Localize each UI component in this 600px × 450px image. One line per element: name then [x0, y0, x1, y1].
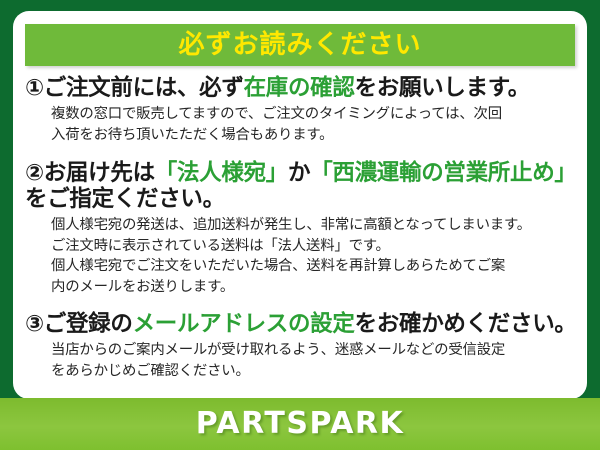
notice-item-1-heading-part-1: ご注文前には、必ず	[44, 75, 244, 101]
notice-items-list: ①ご注文前には、必ず在庫の確認をお願いします。 複数の窓口で販売してますので、ご…	[13, 75, 587, 381]
notice-item-3-marker: ③	[25, 311, 44, 337]
header-title: 必ずお読みください	[178, 32, 421, 58]
notice-item-2-body-line-1: 個人様宅宛の発送は、追加送料が発生し、非常に高額となってしまいます。	[51, 215, 577, 235]
notice-item-1-heading: ①ご注文前には、必ず在庫の確認をお願いします。	[25, 75, 577, 101]
notice-item-1-marker: ①	[25, 75, 44, 101]
notice-item-2-heading-part-1: お届け先は	[44, 160, 155, 186]
notice-item-1-heading-part-3: をお願いします。	[355, 75, 530, 101]
notice-item-2-heading: ②お届け先は「法人様宛」か「西濃運輸の営業所止め」をご指定ください。	[25, 160, 577, 212]
notice-item-3-body-line-1: 当店からのご案内メールが受け取れるよう、迷惑メールなどの受信設定	[51, 340, 577, 360]
notice-item-2-marker: ②	[25, 160, 44, 186]
notice-item-1: ①ご注文前には、必ず在庫の確認をお願いします。 複数の窓口で販売してますので、ご…	[13, 75, 587, 145]
notice-item-2-body-line-2: ご注文時に表示されている送料は「法人送料」です。	[51, 236, 577, 256]
notice-item-1-body-line-2: 入荷をお待ち頂いたただく場合もあります。	[51, 125, 577, 145]
notice-item-2-heading-highlight-2: 「西濃運輸の営業所止め」	[310, 160, 576, 186]
notice-item-2-body-line-3: 個人様宅宛でご注文をいただいた場合、送料を再計算しあらためてご案	[51, 256, 577, 276]
notice-item-2-body: 個人様宅宛の発送は、追加送料が発生し、非常に高額となってしまいます。 ご注文時に…	[51, 215, 577, 297]
notice-item-1-body: 複数の窓口で販売してますので、ご注文のタイミングによっては、次回 入荷をお待ち頂…	[51, 104, 577, 145]
notice-item-2-body-line-4: 内のメールをお送りします。	[51, 277, 577, 297]
notice-item-3-heading-part-3: をお確かめください。	[355, 311, 577, 337]
notice-item-2-heading-part-3: か	[288, 160, 310, 186]
notice-banner: 必ずお読みください ①ご注文前には、必ず在庫の確認をお願いします。 複数の窓口で…	[0, 0, 600, 450]
notice-item-2: ②お届け先は「法人様宛」か「西濃運輸の営業所止め」をご指定ください。 個人様宅宛…	[13, 160, 587, 297]
notice-item-1-body-line-1: 複数の窓口で販売してますので、ご注文のタイミングによっては、次回	[51, 104, 577, 124]
notice-item-3-heading-highlight: メールアドレスの設定	[133, 311, 355, 337]
notice-item-1-heading-highlight: 在庫の確認	[244, 75, 355, 101]
content-panel: 必ずお読みください ①ご注文前には、必ず在庫の確認をお願いします。 複数の窓口で…	[13, 11, 587, 399]
notice-item-3-heading: ③ご登録のメールアドレスの設定をお確かめください。	[25, 311, 577, 337]
notice-item-2-heading-part-5: をご指定ください。	[25, 186, 225, 212]
notice-item-3-body: 当店からのご案内メールが受け取れるよう、迷惑メールなどの受信設定 をあらかじめご…	[51, 340, 577, 381]
notice-item-3: ③ご登録のメールアドレスの設定をお確かめください。 当店からのご案内メールが受け…	[13, 311, 587, 381]
notice-item-2-heading-highlight-1: 「法人様宛」	[155, 160, 288, 186]
footer-bar: PARTSPARK	[0, 398, 600, 450]
notice-item-3-body-line-2: をあらかじめご確認ください。	[51, 361, 577, 381]
brand-logo: PARTSPARK	[196, 409, 405, 439]
header-bar: 必ずお読みください	[25, 24, 575, 66]
notice-item-3-heading-part-1: ご登録の	[44, 311, 133, 337]
